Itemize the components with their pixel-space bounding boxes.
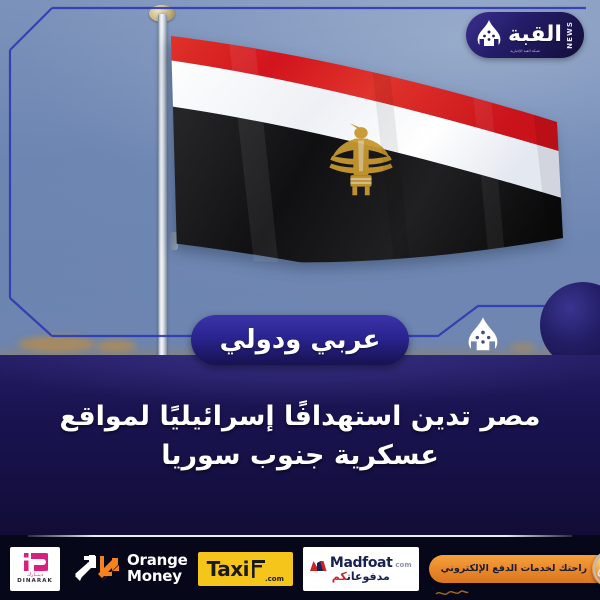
taxi-com-suffix: .com <box>265 575 284 583</box>
sponsor-madfoat-com[interactable]: Madfoat com مدفوعاتكم <box>303 547 419 591</box>
category-badge[interactable]: عربي ودولي <box>191 315 409 365</box>
headline-text: مصر تدين استهدافًا إسرائيليًا لمواقع عسك… <box>28 398 572 476</box>
madfoat-m-mark-icon <box>310 557 327 569</box>
foliage-blur <box>510 342 536 352</box>
category-label: عربي ودولي <box>220 327 381 353</box>
orange-money-arrows-icon <box>74 554 120 584</box>
site-logo[interactable]: NEWS القبة شبكة القبة الإخبارية <box>466 12 584 58</box>
logo-news-label: NEWS <box>566 21 574 49</box>
taxi-flag-icon <box>251 559 266 579</box>
sponsor-orange-money[interactable]: Orange Money <box>70 553 188 584</box>
dinarak-latin-label: DINARAK <box>17 578 53 585</box>
eFAWATEERcom-orb-icon <box>592 550 600 588</box>
sponsor-taxi-com[interactable]: Taxi .com <box>198 552 293 586</box>
foliage-blur <box>96 340 136 352</box>
madfoat-arabic-label: مدفوعاتكم <box>332 571 390 582</box>
madfoat-com-suffix: com <box>395 561 411 569</box>
orange-money-label: Orange Money <box>127 553 188 584</box>
madfoat-arabic-part1: مدفوعات <box>347 570 390 583</box>
madfoat-arabic-part2: كم <box>332 570 347 583</box>
logo-wordmark: القبة <box>508 24 562 46</box>
madfoat-wordmark: Madfoat <box>330 556 392 570</box>
foliage-blur <box>18 336 96 352</box>
ad-banner-text: راحتك لخدمات الدفع الإلكتروني <box>441 564 587 574</box>
dome-ornament-icon <box>464 316 502 354</box>
egypt-flag-image <box>165 26 565 316</box>
sponsor-bar: دينــارك DINARAK Orang <box>0 535 600 600</box>
logo-tagline: شبكة القبة الإخبارية <box>466 49 584 53</box>
sponsor-efawateercom-ad[interactable]: راحتك لخدمات الدفع الإلكتروني <box>429 555 600 583</box>
squiggle-decoration <box>435 582 469 590</box>
sponsor-dinarak[interactable]: دينــارك DINARAK <box>10 547 60 591</box>
dome-ornament-icon <box>474 19 504 51</box>
orange-money-line2: Money <box>127 567 182 585</box>
news-card: NEWS القبة شبكة القبة الإخبارية عربي ودو… <box>0 0 600 600</box>
dinarak-logo-icon <box>22 551 48 573</box>
taxi-wordmark: Taxi <box>207 559 249 579</box>
